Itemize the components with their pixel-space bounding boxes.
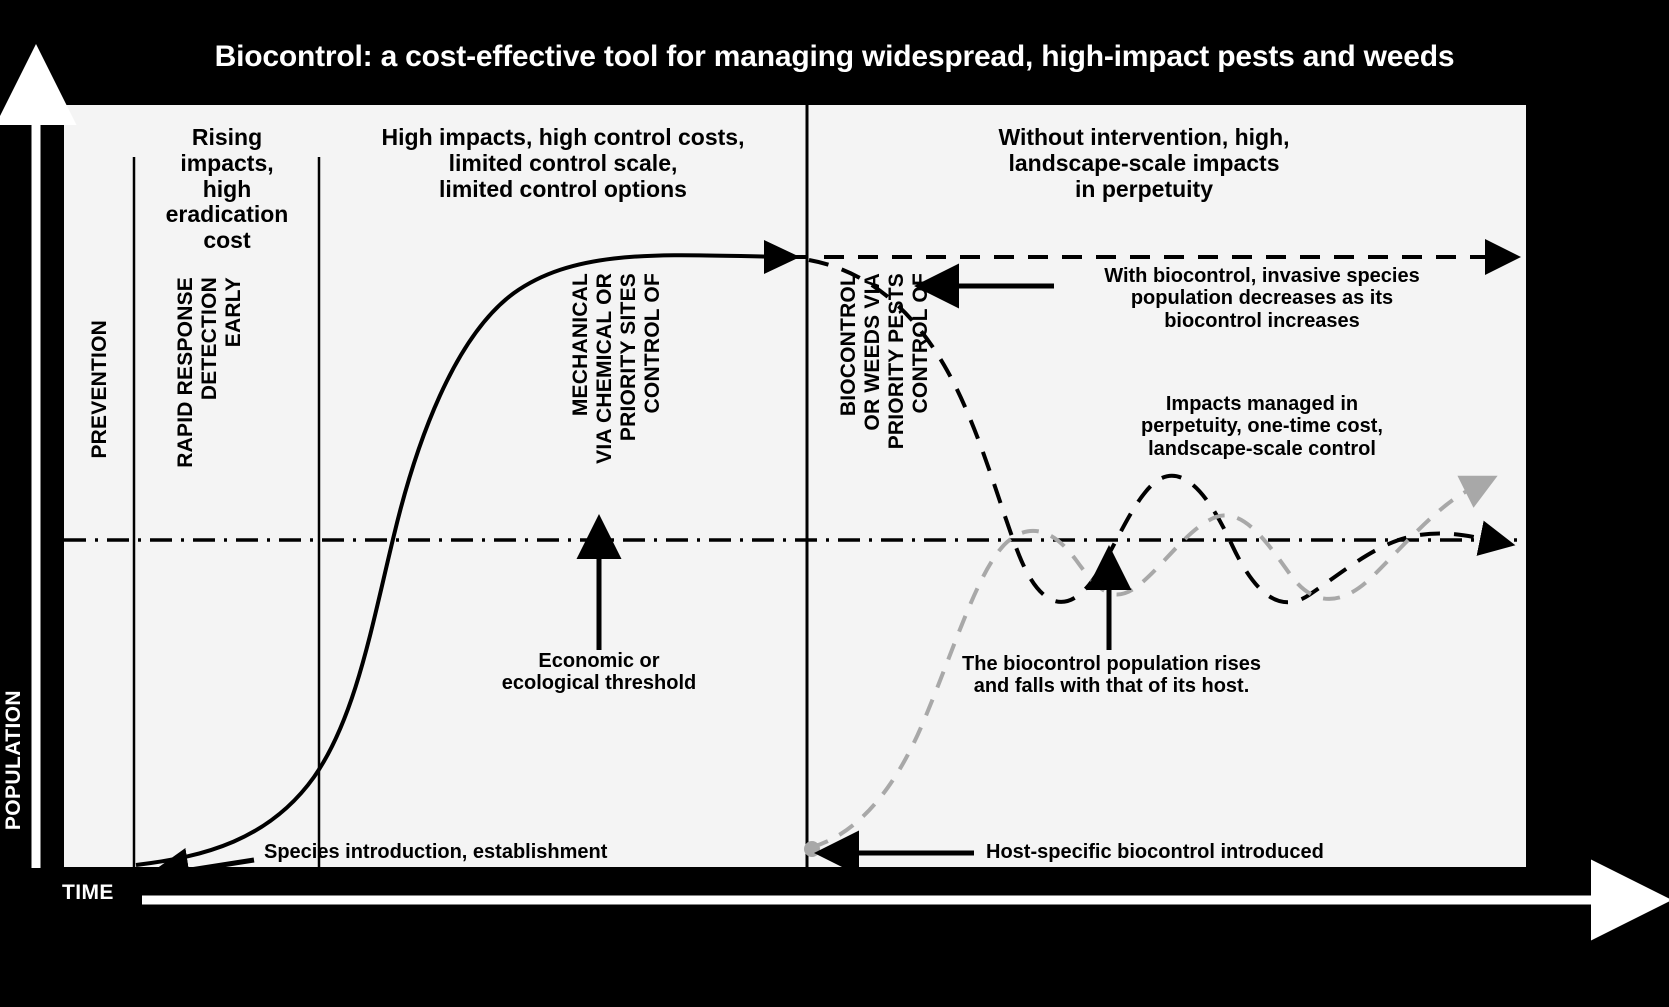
stage-header-rising-impacts: Rising impacts, high eradication cost [132,125,322,254]
line: MECHANICAL [569,273,593,416]
line: population decreases as its [1062,287,1462,309]
stage-header-without-intervention: Without intervention, high, landscape-sc… [894,125,1394,202]
line: perpetuity, one-time cost, [1072,415,1452,437]
line: CONTROL OF [909,273,933,413]
line: cost [132,228,322,254]
chart-panel: Rising impacts, high eradication cost Hi… [62,103,1528,869]
line: and falls with that of its host. [924,675,1299,697]
page-title: Biocontrol: a cost-effective tool for ma… [0,40,1669,74]
annotation-threshold: Economic or ecological threshold [449,650,749,695]
line: High impacts, high control costs, [322,125,804,151]
stage-header-high-impacts: High impacts, high control costs, limite… [322,125,804,202]
vertical-label-prevention: PREVENTION [88,320,112,570]
line: impacts, [132,151,322,177]
line: ecological threshold [449,672,749,694]
annotation-host-specific: Host-specific biocontrol introduced [986,841,1324,863]
line: RAPID RESPONSE [174,277,198,468]
vertical-label-edrr: EARLY DETECTION RAPID RESPONSE [174,277,246,567]
line: BIOCONTROL [837,273,861,416]
line: eradication [132,202,322,228]
line: OR WEEDS VIA [861,273,885,431]
annotation-biocontrol-rises: The biocontrol population rises and fall… [924,653,1299,698]
line: high [132,177,322,203]
line: landscape-scale impacts [894,151,1394,177]
vertical-label-chemical-control: CONTROL OF PRIORITY SITES VIA CHEMICAL O… [569,273,665,573]
line: biocontrol increases [1062,310,1462,332]
x-axis-label: TIME [62,881,114,905]
annotation-impacts-managed: Impacts managed in perpetuity, one-time … [1072,393,1452,460]
vertical-label-biocontrol: CONTROL OF PRIORITY PESTS OR WEEDS VIA B… [837,273,933,573]
line: PRIORITY SITES [617,273,641,441]
line: Without intervention, high, [894,125,1394,151]
line: PREVENTION [88,320,112,459]
arrow-species-introduction [184,860,254,871]
line: limited control scale, [322,151,804,177]
line: The biocontrol population rises [924,653,1299,675]
line: Rising [132,125,322,151]
line: PRIORITY PESTS [885,273,909,449]
no-intervention-start-arrow [764,240,800,274]
line: in perpetuity [894,177,1394,203]
line: Economic or [449,650,749,672]
line: EARLY [222,277,246,347]
biocontrol-introduction-dot [804,841,820,857]
y-axis-label: POPULATION [2,690,26,830]
annotation-species-introduction: Species introduction, establishment [264,841,607,863]
line: VIA CHEMICAL OR [593,273,617,464]
infographic-root: Biocontrol: a cost-effective tool for ma… [0,0,1669,1007]
line: With biocontrol, invasive species [1062,265,1462,287]
line: CONTROL OF [641,273,665,413]
annotation-with-biocontrol: With biocontrol, invasive species popula… [1062,265,1462,332]
line: DETECTION [198,277,222,400]
line: limited control options [322,177,804,203]
line: Impacts managed in [1072,393,1452,415]
line: landscape-scale control [1072,438,1452,460]
